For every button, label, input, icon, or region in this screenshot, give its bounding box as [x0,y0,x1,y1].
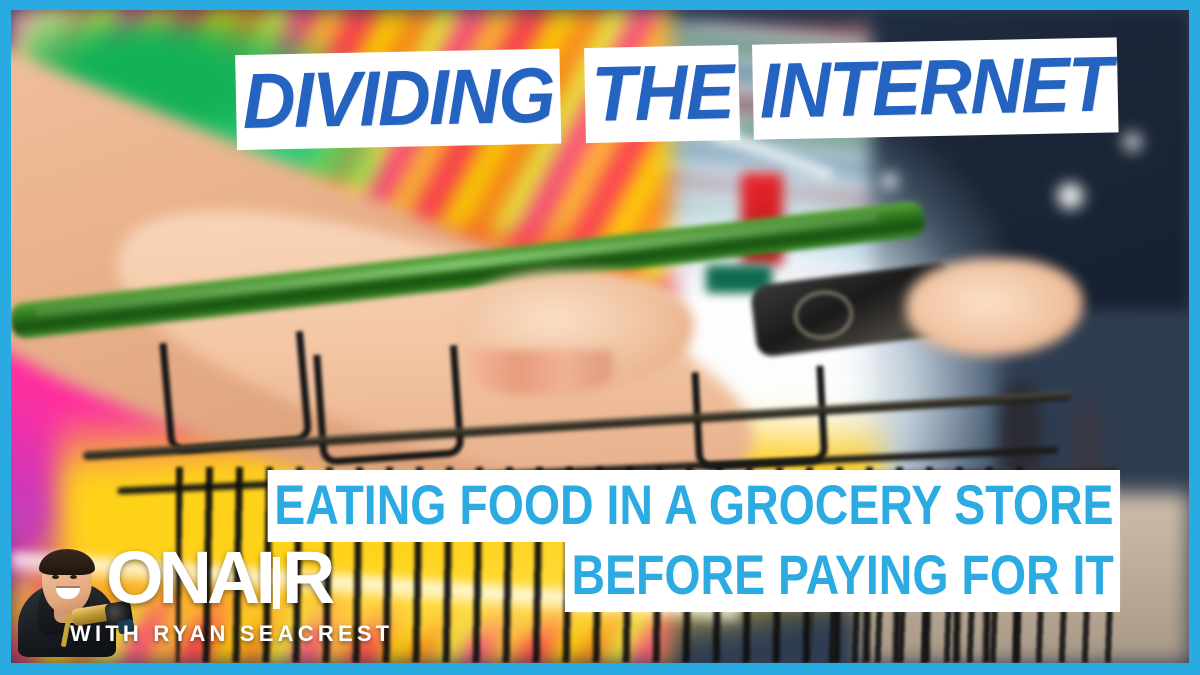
subtitle-line-1: EATING FOOD IN A GROCERY STORE [267,470,1120,542]
on-air-wordmark: ONAIR [106,539,314,617]
cart-wire-loop [160,330,313,454]
fingers [470,350,611,396]
vertical-bar-divider-icon [273,557,280,609]
subtitle-line-2: BEFORE PAYING FOR IT [564,540,1120,612]
eye [52,575,59,579]
second-hand [906,258,1083,356]
thumbnail-canvas: DIVIDING THE INTERNET EATING FOOD IN A G… [0,0,1200,675]
logo-tagline: WITH RYAN SEACREST [70,621,393,647]
title-word-2: THE [584,45,740,143]
eye [70,575,77,579]
distant-shopper [1071,395,1101,475]
headline-title: DIVIDING THE INTERNET [235,37,1141,150]
hair [39,549,95,575]
title-word-1: DIVIDING [235,49,561,150]
title-word-3: INTERNET [752,37,1119,139]
wordmark-r: R [282,539,330,617]
wordmark-on: ON [106,539,207,617]
cart-wire-loop [314,345,465,466]
on-air-logo: ONAIR WITH RYAN SEACREST [14,539,314,657]
wordmark-ai: AI [207,539,271,617]
